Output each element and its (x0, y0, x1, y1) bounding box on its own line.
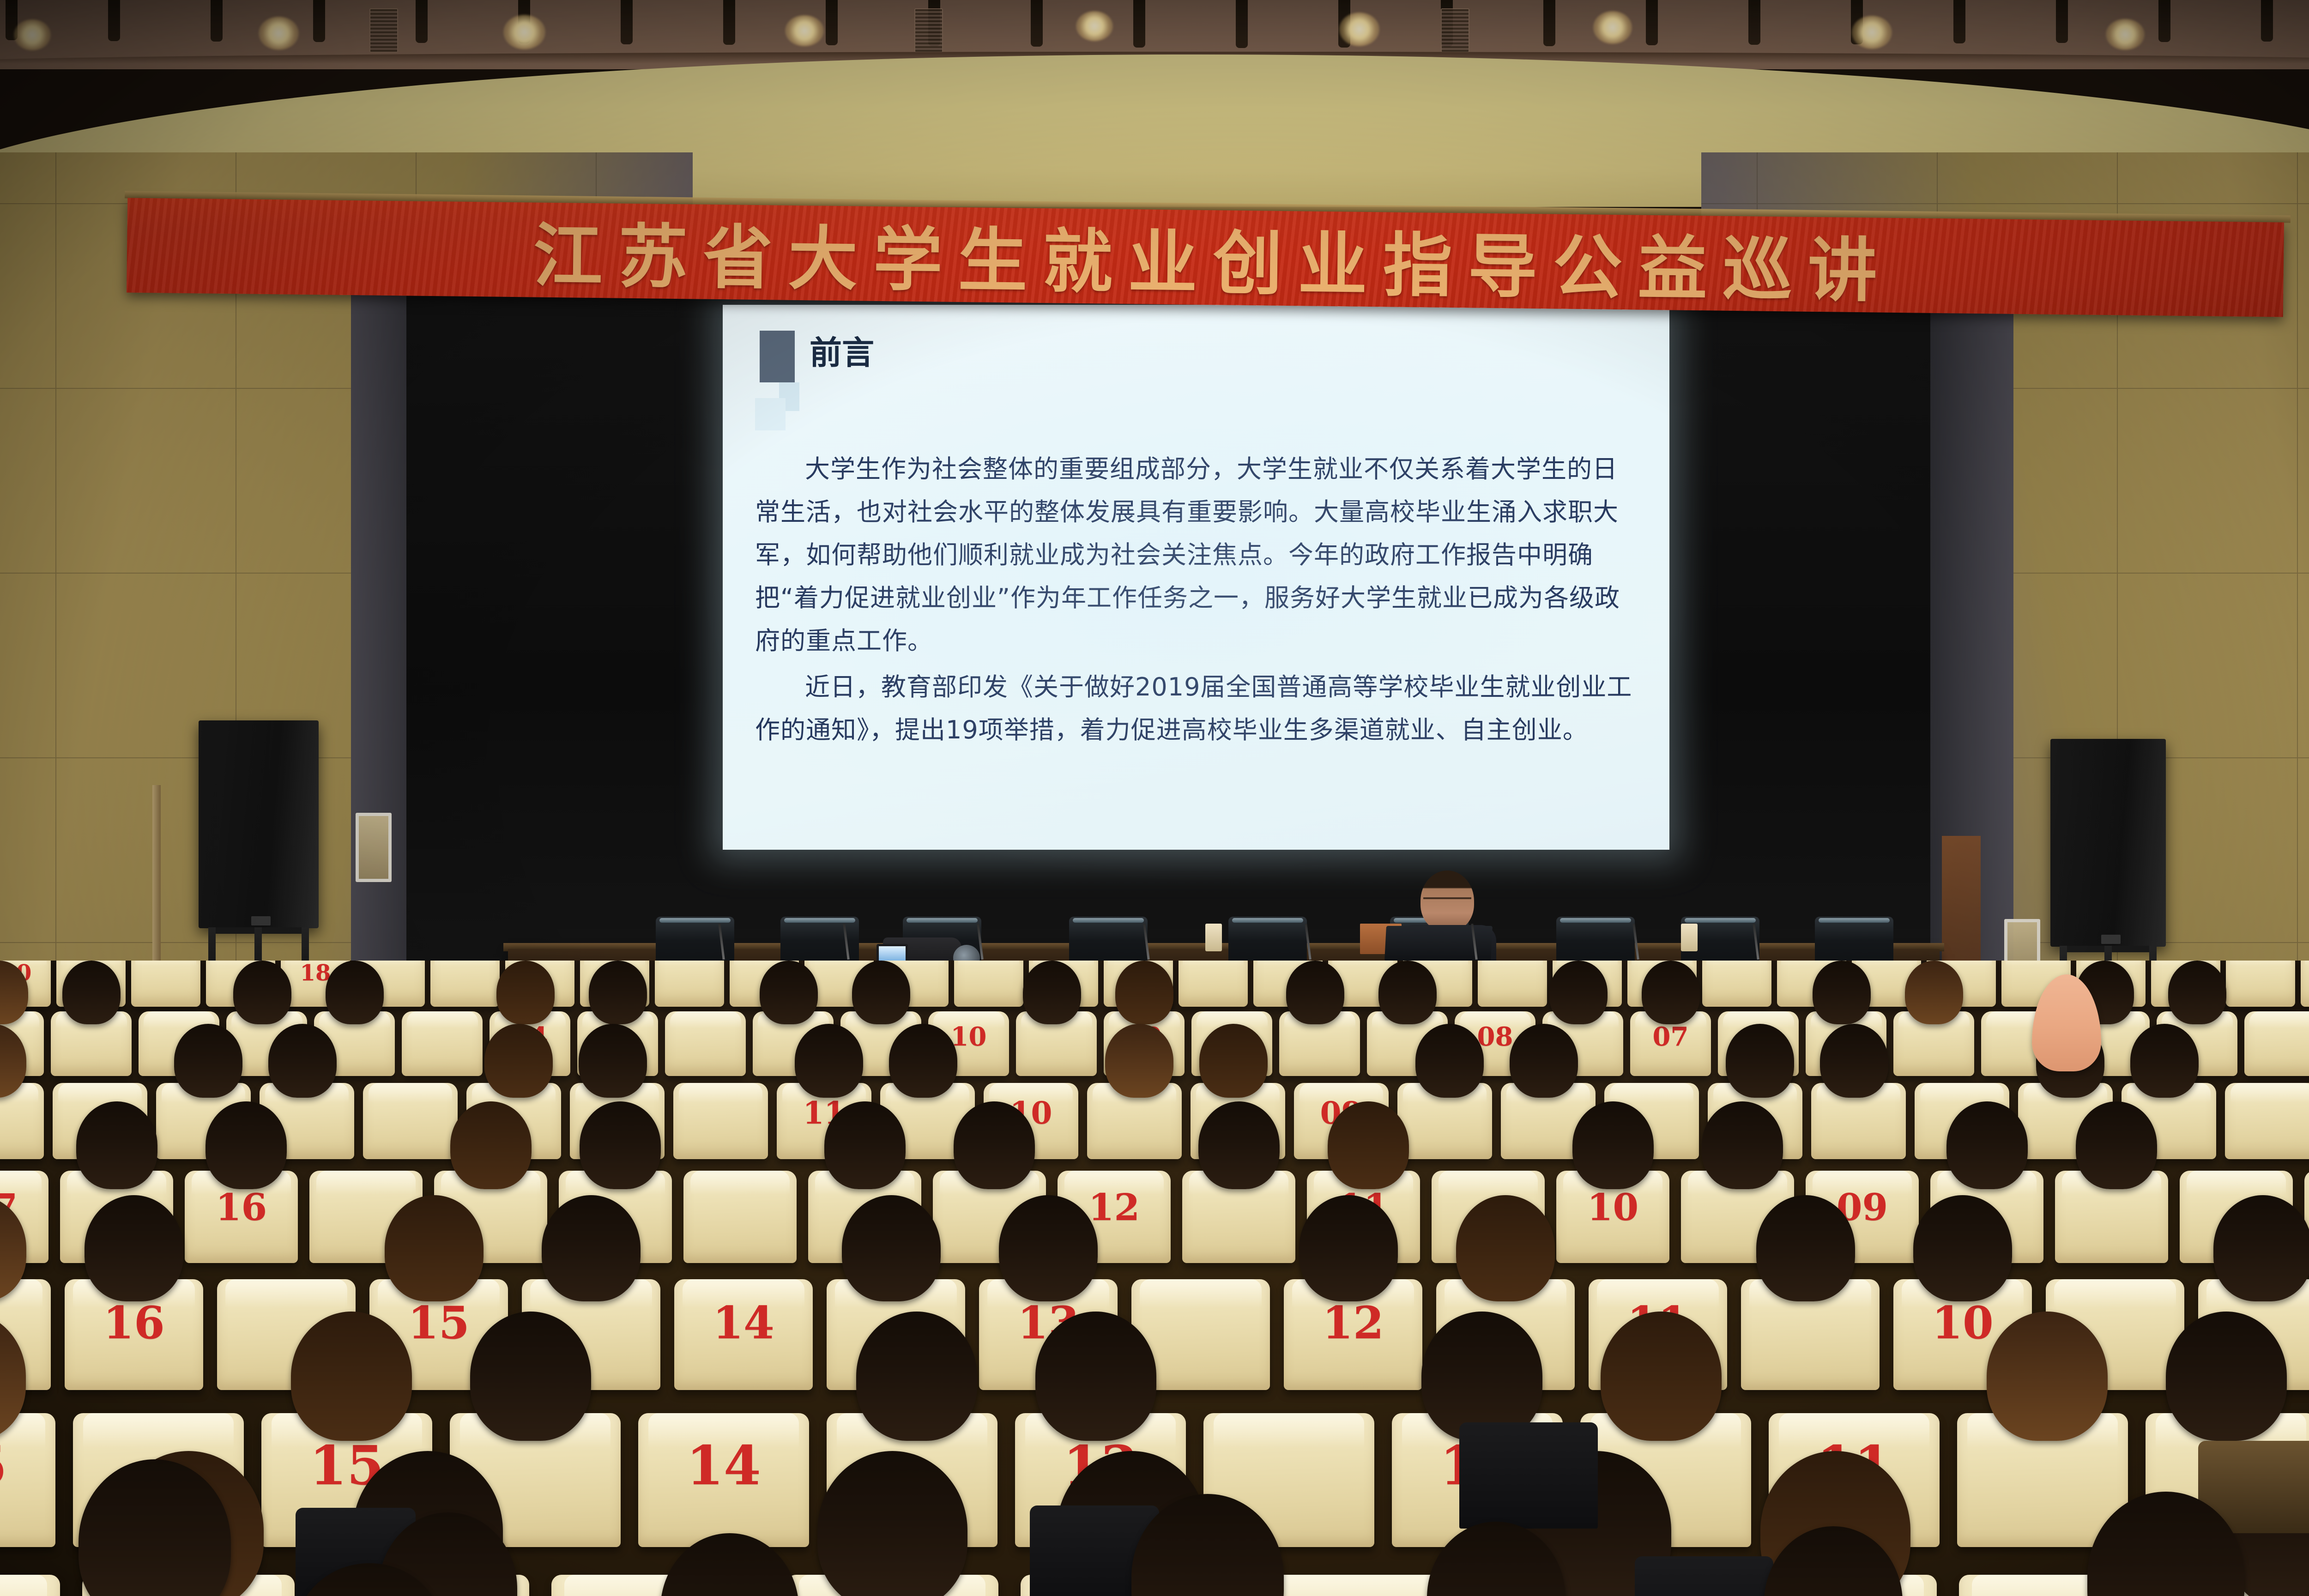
audience-head (1702, 1101, 1783, 1189)
audience-chair (2225, 1083, 2309, 1159)
audience-head (1510, 1024, 1578, 1098)
ceiling-light (1076, 11, 1113, 41)
audience-head (1115, 961, 1173, 1024)
audience-head (1813, 961, 1871, 1024)
audience-head (1328, 1101, 1409, 1189)
audience-chair (0, 1575, 60, 1596)
audience-head (1415, 1024, 1484, 1098)
seat-number: 14 (686, 1434, 761, 1497)
audience-chair (2226, 961, 2295, 1007)
audience-head (268, 1024, 337, 1098)
ceiling-slat (1646, 0, 1658, 45)
ceiling-slat (1133, 0, 1145, 48)
audience-head (2168, 961, 2226, 1024)
audience-head (484, 1024, 553, 1098)
ceiling-air-vent (1441, 8, 1469, 53)
audience-head (233, 961, 291, 1024)
ceiling-air-vent (914, 8, 943, 53)
audience-head (542, 1195, 641, 1301)
audience-head (2076, 1101, 2157, 1189)
ceiling-light (259, 17, 299, 50)
audience-chair (954, 961, 1023, 1007)
audience-chair (2301, 961, 2309, 1007)
audience-head (1286, 961, 1344, 1024)
audience-head (1378, 961, 1437, 1024)
audience-chair (1478, 961, 1547, 1007)
audience-head (1421, 1312, 1542, 1441)
ceiling-slat (2261, 0, 2273, 42)
ceiling-light (785, 15, 824, 47)
audience-chair: 15 (0, 1413, 55, 1547)
audience-head (1199, 1024, 1268, 1098)
ceiling-slat (621, 0, 633, 44)
audience-head (2130, 1024, 2199, 1098)
audience-head (385, 1195, 484, 1301)
wall-outlet-box-left (356, 813, 392, 882)
ceiling-slat (108, 0, 120, 41)
audience-head (1549, 961, 1608, 1024)
ceiling-slat (723, 0, 735, 45)
slide-paragraph-2: 近日，教育部印发《关于做好2019届全国普通高等学校毕业生就业创业工作的通知》，… (755, 666, 1637, 752)
audience-head (76, 1101, 157, 1189)
audience-coat (1635, 1556, 1773, 1596)
seat-number: 10 (1932, 1297, 1994, 1349)
audience-head (954, 1101, 1035, 1189)
audience-head (760, 961, 818, 1024)
slide-decoration-square-icon (755, 329, 795, 393)
audience-chair (673, 1083, 768, 1159)
ceiling-slat (2056, 0, 2068, 43)
ceiling-light (2106, 19, 2145, 50)
ceiling-light (1593, 11, 1632, 43)
audience-coat (1459, 1422, 1598, 1529)
ceiling-light (503, 15, 545, 49)
seat-number: 10 (1587, 1185, 1638, 1229)
audience-head (1198, 1101, 1280, 1189)
ceiling-slat (1748, 0, 1760, 45)
ceiling-slat (416, 0, 428, 43)
audience-head (2166, 1312, 2287, 1441)
audience-chair (683, 1171, 797, 1263)
ceiling-slat (1031, 0, 1043, 47)
audience-head (326, 961, 384, 1024)
seat-number: 08 (1477, 1022, 1513, 1052)
audience-chair (1702, 961, 1771, 1007)
audience-head (1905, 961, 1963, 1024)
ceiling-slat (826, 0, 838, 45)
audience-head (1820, 1024, 1888, 1098)
audience-head (85, 1195, 183, 1301)
audience-chair: 14 (674, 1279, 813, 1390)
seat-number: 14 (713, 1297, 774, 1349)
audience-head (852, 961, 910, 1024)
audience-head (1726, 1024, 1794, 1098)
slide-body: 大学生作为社会整体的重要组成部分，大学生就业不仅关系着大学生的日常生活，也对社会… (755, 448, 1637, 752)
audience-head (579, 1024, 647, 1098)
ceiling-air-vent (369, 8, 398, 53)
seat-number: 15 (0, 1434, 7, 1497)
audience-head (62, 961, 121, 1024)
seat-number: 16 (103, 1297, 165, 1349)
audience-head (795, 1024, 863, 1098)
audience-chair (1179, 961, 1248, 1007)
audience-chair (430, 961, 500, 1007)
audience-head (1601, 1312, 1722, 1441)
audience-chair (665, 1011, 746, 1076)
audience-chair: 14 (638, 1413, 809, 1547)
ceiling-slat (1236, 0, 1248, 48)
audience-head (206, 1101, 287, 1189)
audience-head (1913, 1195, 2012, 1301)
audience-head (1456, 1195, 1555, 1301)
seat-number: 16 (216, 1185, 267, 1229)
seat-number: 10 (951, 1022, 987, 1052)
ceiling-light (1339, 12, 1379, 46)
seat-number: 18 (300, 961, 331, 986)
banner-text: 江苏省大学生就业创业指导公益巡讲 (517, 199, 1893, 315)
slide-header: 前言 (755, 329, 1637, 393)
audience-head (1642, 961, 1700, 1024)
seat-number: 07 (1653, 1022, 1689, 1052)
audience-head (1035, 1312, 1156, 1441)
auditorium-scene: 前言 大学生作为社会整体的重要组成部分，大学生就业不仅关系着大学生的日常生活，也… (0, 0, 2309, 1596)
audience-head (1299, 1195, 1398, 1301)
audience-head (1023, 961, 1081, 1024)
seat-number: 12 (1322, 1297, 1384, 1349)
audience-head (856, 1312, 977, 1441)
audience-head (1756, 1195, 1855, 1301)
audience-head (842, 1195, 941, 1301)
ceiling-slat (2158, 0, 2170, 42)
ceiling-slat (313, 0, 325, 42)
audience-head (450, 1101, 532, 1189)
audience-head (580, 1101, 661, 1189)
audience-head (174, 1024, 242, 1098)
audience-head (999, 1195, 1098, 1301)
ceiling-slat (1543, 0, 1555, 46)
ceiling-slat (1953, 0, 1965, 43)
audience-chair (402, 1011, 483, 1076)
speaker-glasses-icon (1423, 897, 1471, 907)
projection-screen: 前言 大学生作为社会整体的重要组成部分，大学生就业不仅关系着大学生的日常生活，也… (723, 305, 1669, 850)
audience-head (291, 1312, 412, 1441)
audience-head (824, 1101, 906, 1189)
audience-head (1946, 1101, 2028, 1189)
audience-head (1987, 1312, 2108, 1441)
slide-content: 前言 大学生作为社会整体的重要组成部分，大学生就业不仅关系着大学生的日常生活，也… (723, 305, 1669, 850)
audience-chair (363, 1083, 458, 1159)
water-cup-a (1205, 924, 1222, 951)
audience-head (470, 1312, 591, 1441)
water-cup-b (1681, 924, 1698, 951)
audience-head (889, 1024, 957, 1098)
slide-title: 前言 (810, 336, 874, 370)
audience-head (1572, 1101, 1654, 1189)
ceiling-light (14, 19, 51, 51)
audience-head (2213, 1195, 2309, 1301)
audience-seating: 2018141009080711100917161211100916151413… (0, 961, 2309, 1596)
slide-paragraph-1: 大学生作为社会整体的重要组成部分，大学生就业不仅关系着大学生的日常生活，也对社会… (755, 448, 1637, 662)
audience-head (1105, 1024, 1173, 1098)
seat-number: 12 (1088, 1185, 1140, 1229)
audience-chair (131, 961, 200, 1007)
seat-number: 15 (408, 1297, 470, 1349)
audience-head (496, 961, 555, 1024)
ceiling-light (1852, 16, 1892, 49)
audience-head (589, 961, 647, 1024)
audience-chair (2244, 1011, 2309, 1076)
ceiling-slat (211, 0, 223, 42)
audience-chair (655, 961, 724, 1007)
